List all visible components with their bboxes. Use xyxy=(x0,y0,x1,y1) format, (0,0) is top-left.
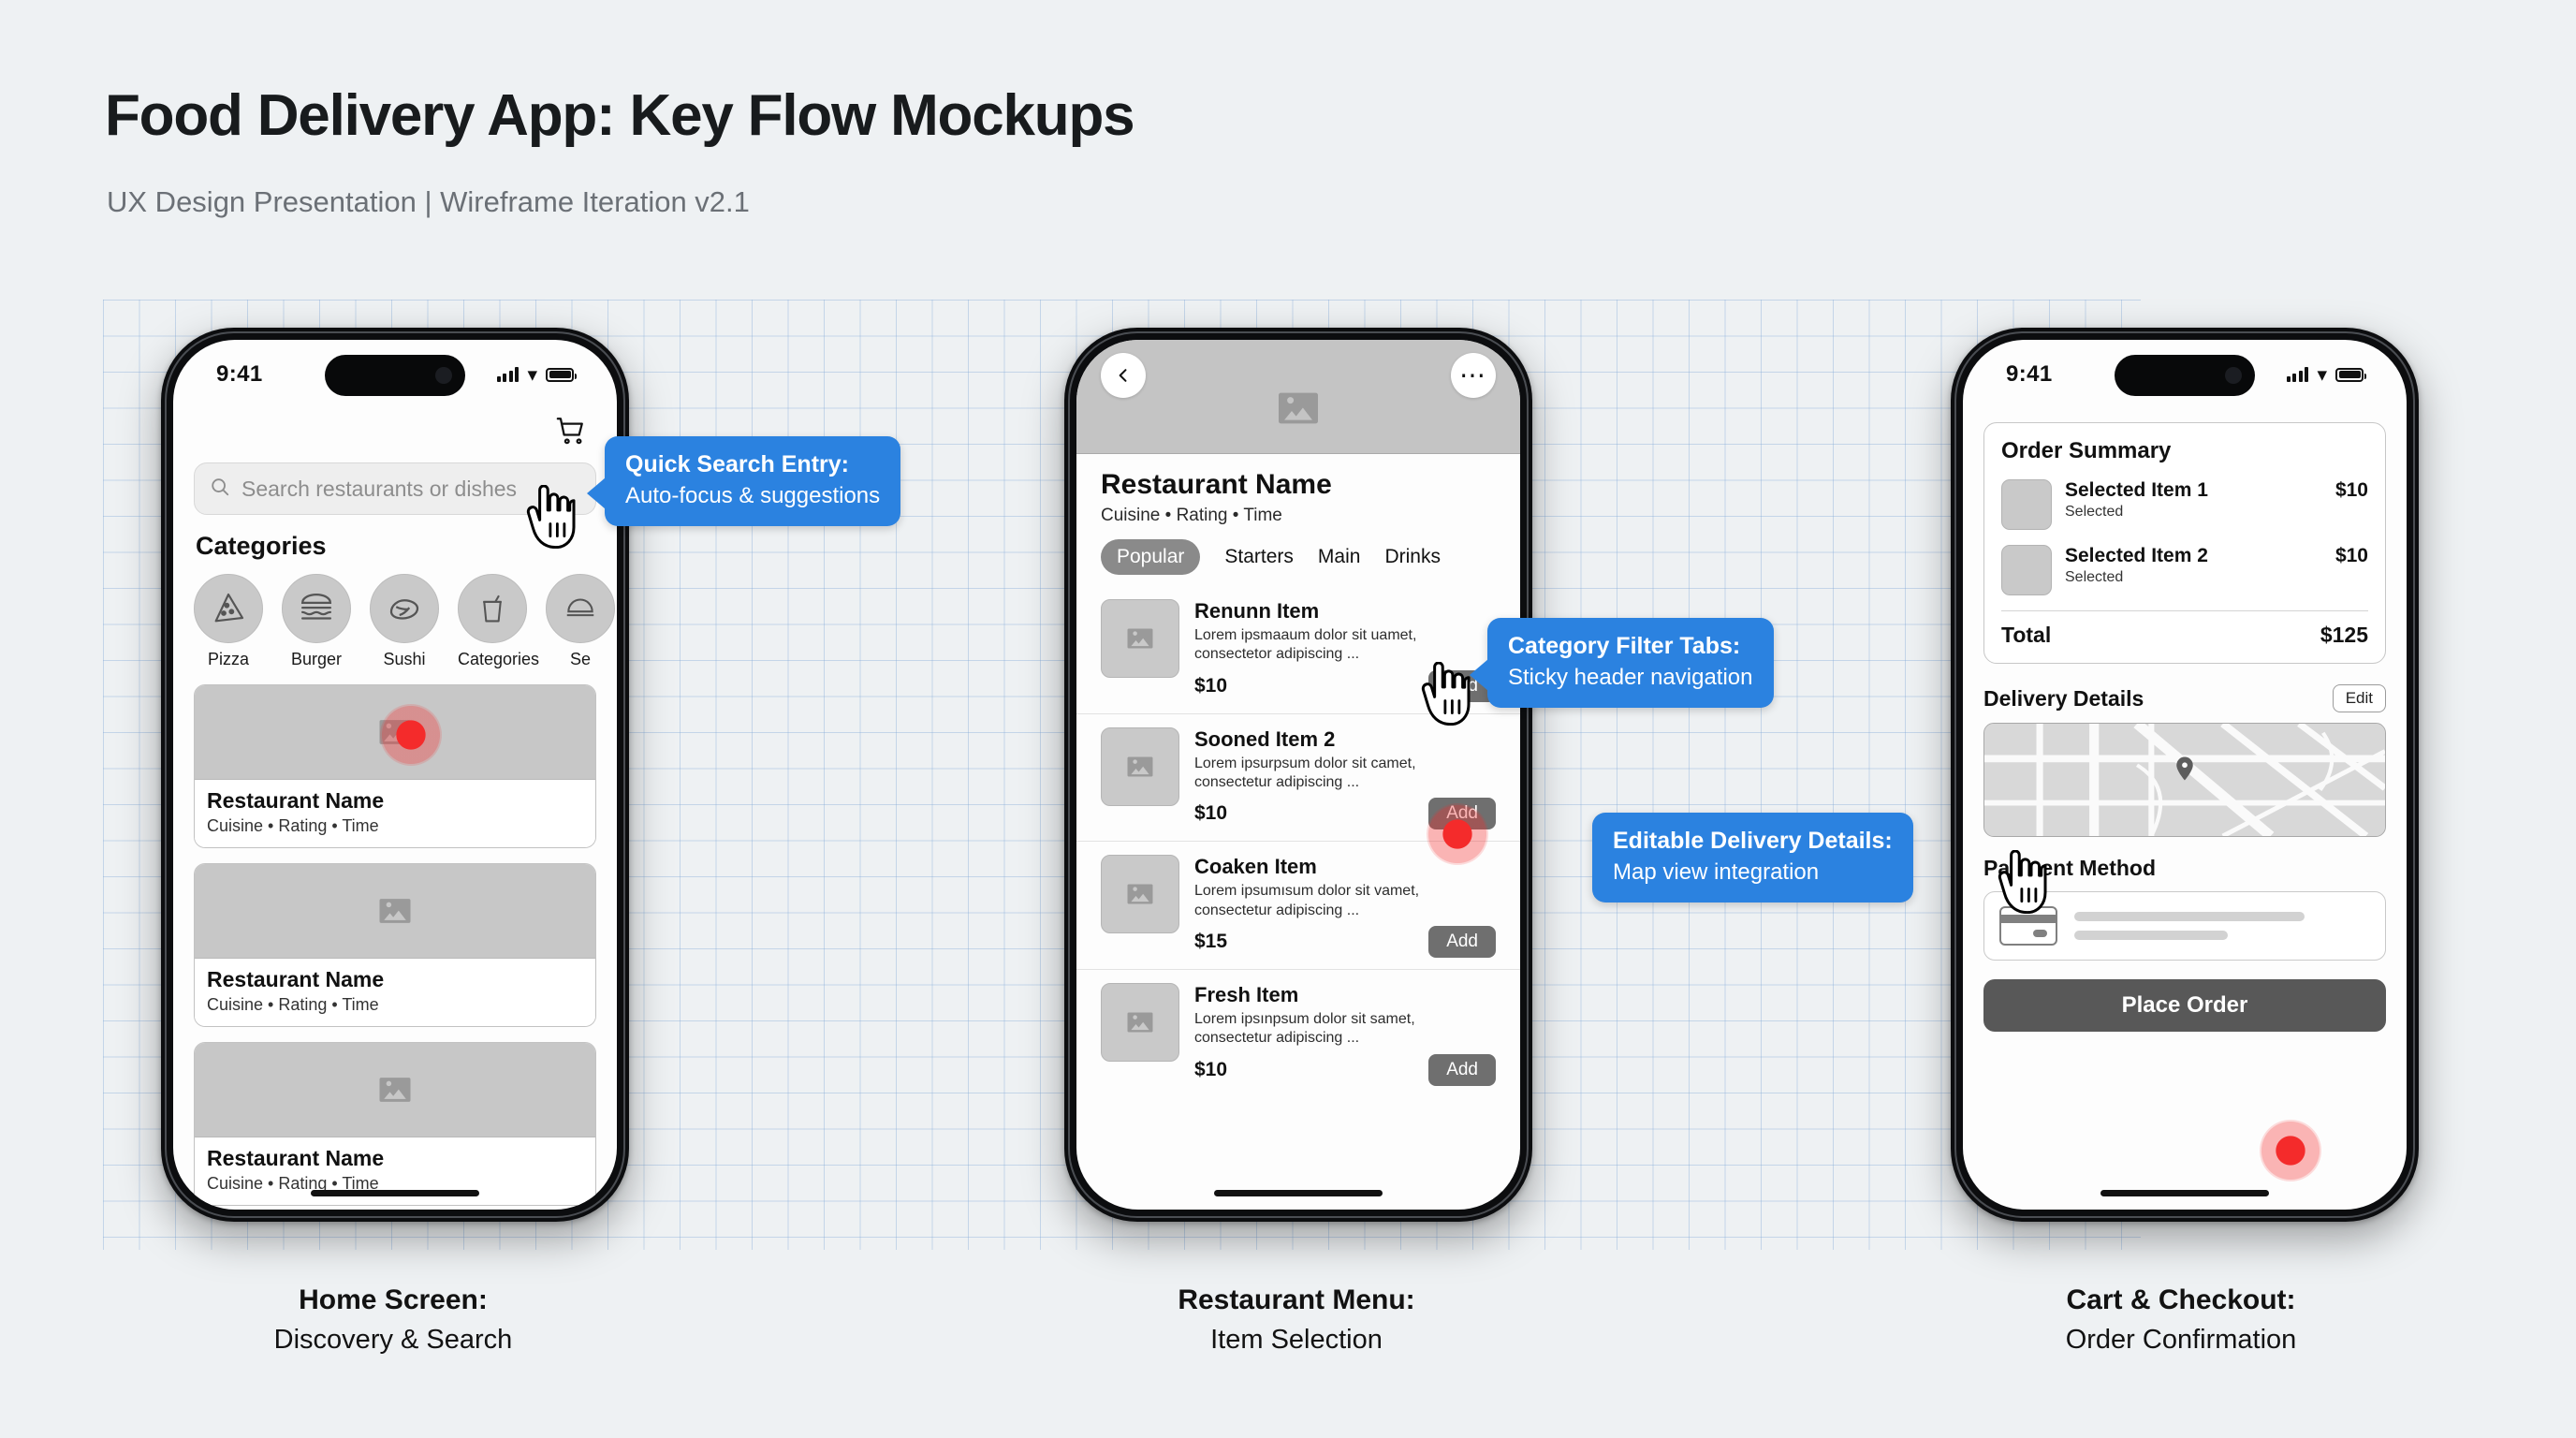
dynamic-island xyxy=(325,355,465,396)
more-options-button[interactable]: ⋯ xyxy=(1451,353,1496,398)
wifi-icon: ▾ xyxy=(2317,365,2327,385)
order-item-info: Selected Item 2 Selected xyxy=(2065,545,2322,586)
pizza-slice-icon xyxy=(194,574,263,643)
phone-mockup-restaurant-menu: 9:41 ▾ ⋯ Restaurant Name Cuisine • Ratin… xyxy=(1064,328,1532,1222)
tab-starters[interactable]: Starters xyxy=(1224,546,1294,568)
callout-quick-search-entry: Quick Search Entry: Auto-focus & suggest… xyxy=(605,436,900,526)
menu-item-footer: $15 Add xyxy=(1194,926,1496,958)
total-value: $125 xyxy=(2320,623,2368,648)
callout-subtitle: Map view integration xyxy=(1613,858,1893,887)
callout-title: Category Filter Tabs: xyxy=(1508,632,1753,660)
categories-row: Pizza Burger Sushi xyxy=(194,574,596,669)
order-item-name: Selected Item 2 xyxy=(2065,545,2322,567)
restaurant-name: Restaurant Name xyxy=(1101,469,1496,501)
checkout-content: Order Summary Selected Item 1 Selected $… xyxy=(1963,409,2407,1032)
status-indicators: ▾ xyxy=(497,365,574,385)
chevron-left-icon xyxy=(1114,366,1133,385)
restaurant-name: Restaurant Name xyxy=(207,788,583,814)
burger-icon xyxy=(282,574,351,643)
page-subtitle: UX Design Presentation | Wireframe Itera… xyxy=(107,185,750,219)
order-summary-panel: Order Summary Selected Item 1 Selected $… xyxy=(1983,422,2386,664)
status-indicators: ▾ xyxy=(2287,365,2364,385)
order-item-info: Selected Item 1 Selected xyxy=(2065,479,2322,521)
edit-delivery-button[interactable]: Edit xyxy=(2333,684,2386,712)
restaurant-card[interactable]: Restaurant Name Cuisine • Rating • Time xyxy=(194,863,596,1027)
order-item-price: $10 xyxy=(2335,545,2368,567)
tab-popular[interactable]: Popular xyxy=(1101,539,1200,575)
order-item-thumbnail xyxy=(2001,545,2052,595)
menu-item-price: $10 xyxy=(1194,1059,1227,1081)
search-placeholder: Search restaurants or dishes xyxy=(241,477,517,502)
phone-mockup-home-screen: 9:41 ▾ xyxy=(161,328,629,1222)
front-camera-icon xyxy=(435,367,452,384)
cellular-signal-icon xyxy=(497,367,520,382)
category-label: Pizza xyxy=(194,650,263,669)
cart-row xyxy=(194,409,596,462)
front-camera-icon xyxy=(2225,367,2242,384)
divider xyxy=(2001,610,2368,611)
caption-title: Home Screen: xyxy=(131,1284,655,1316)
caption-title: Cart & Checkout: xyxy=(1919,1284,2443,1316)
caption-cart-checkout: Cart & Checkout: Order Confirmation xyxy=(1919,1284,2443,1356)
home-indicator xyxy=(2100,1190,2269,1196)
menu-item-thumbnail xyxy=(1101,727,1179,806)
category-label: Categories xyxy=(458,650,527,669)
status-bar: 9:41 ▾ xyxy=(1963,340,2407,409)
restaurant-image-placeholder xyxy=(195,864,595,958)
category-filter-tabs: Popular Starters Main Drinks xyxy=(1101,539,1496,575)
callout-title: Editable Delivery Details: xyxy=(1613,827,1893,855)
restaurant-name: Restaurant Name xyxy=(207,1146,583,1171)
restaurant-image-placeholder xyxy=(195,1043,595,1137)
tap-indicator xyxy=(380,704,442,766)
battery-icon xyxy=(546,368,574,382)
order-item-thumbnail xyxy=(2001,479,2052,530)
order-item-row: Selected Item 1 Selected $10 xyxy=(2001,479,2368,530)
category-label: Burger xyxy=(282,650,351,669)
order-summary-title: Order Summary xyxy=(2001,438,2368,464)
restaurant-submeta: Cuisine • Rating • Time xyxy=(1101,506,1496,526)
caption-subtitle: Item Selection xyxy=(1034,1325,1559,1356)
search-icon xyxy=(210,477,230,502)
hand-cursor-icon xyxy=(520,485,577,549)
restaurant-submeta: Cuisine • Rating • Time xyxy=(207,995,583,1015)
delivery-map-preview[interactable] xyxy=(1983,723,2386,837)
screen-menu: 9:41 ▾ ⋯ Restaurant Name Cuisine • Ratin… xyxy=(1076,340,1520,1210)
order-total-row: Total $125 xyxy=(2001,623,2368,648)
sushi-icon xyxy=(370,574,439,643)
callout-editable-delivery-details: Editable Delivery Details: Map view inte… xyxy=(1592,813,1913,902)
order-item-name: Selected Item 1 xyxy=(2065,479,2322,502)
add-item-button[interactable]: Add xyxy=(1428,926,1496,958)
callout-subtitle: Auto-focus & suggestions xyxy=(625,482,880,510)
restaurant-card[interactable]: Restaurant Name Cuisine • Rating • Time xyxy=(194,1042,596,1206)
category-chip-drinks[interactable]: Categories xyxy=(458,574,527,669)
caption-title: Restaurant Menu: xyxy=(1034,1284,1559,1316)
order-item-status: Selected xyxy=(2065,569,2322,586)
callout-title: Quick Search Entry: xyxy=(625,450,880,478)
hand-cursor-icon xyxy=(1992,850,2048,914)
shopping-cart-icon[interactable] xyxy=(555,415,587,451)
home-indicator xyxy=(311,1190,479,1196)
page-title: Food Delivery App: Key Flow Mockups xyxy=(105,82,1134,149)
caption-subtitle: Discovery & Search xyxy=(131,1325,655,1356)
menu-item-name: Fresh Item xyxy=(1194,983,1496,1007)
hand-cursor-icon xyxy=(1415,662,1471,726)
restaurant-name: Restaurant Name xyxy=(207,967,583,992)
delivery-details-title: Delivery Details xyxy=(1983,686,2144,712)
caption-subtitle: Order Confirmation xyxy=(1919,1325,2443,1356)
status-time: 9:41 xyxy=(2006,361,2053,388)
battery-icon xyxy=(2335,368,2364,382)
menu-item-description: Lorem ipsmaaum dolor sit uamet, consecte… xyxy=(1194,626,1496,665)
total-label: Total xyxy=(2001,623,2051,648)
category-chip-burger[interactable]: Burger xyxy=(282,574,351,669)
menu-item-price: $10 xyxy=(1194,675,1227,697)
category-chip-pizza[interactable]: Pizza xyxy=(194,574,263,669)
category-chip-sushi[interactable]: Sushi xyxy=(370,574,439,669)
menu-item-name: Sooned Item 2 xyxy=(1194,727,1496,752)
restaurant-submeta: Cuisine • Rating • Time xyxy=(207,816,583,836)
wifi-icon: ▾ xyxy=(527,365,537,385)
restaurant-header-info: Restaurant Name Cuisine • Rating • Time … xyxy=(1076,454,1520,575)
menu-item-body: Fresh Item Lorem ipsınpsum dolor sit sam… xyxy=(1194,983,1496,1086)
restaurant-hero-image: 9:41 ▾ ⋯ xyxy=(1076,340,1520,454)
menu-item-row[interactable]: Fresh Item Lorem ipsınpsum dolor sit sam… xyxy=(1076,969,1520,1097)
tap-indicator xyxy=(2260,1120,2321,1181)
restaurant-meta: Restaurant Name Cuisine • Rating • Time xyxy=(195,958,595,1026)
order-item-row: Selected Item 2 Selected $10 xyxy=(2001,545,2368,595)
payment-line xyxy=(2074,912,2305,921)
menu-item-thumbnail xyxy=(1101,599,1179,678)
callout-subtitle: Sticky header navigation xyxy=(1508,664,1753,692)
callout-category-filter-tabs: Category Filter Tabs: Sticky header navi… xyxy=(1487,618,1774,708)
order-item-price: $10 xyxy=(2335,479,2368,502)
menu-item-thumbnail xyxy=(1101,983,1179,1062)
category-label: Se xyxy=(546,650,615,669)
back-button[interactable] xyxy=(1101,353,1146,398)
dynamic-island xyxy=(2115,355,2255,396)
menu-item-footer: $10 Add xyxy=(1194,1054,1496,1086)
category-chip-partial[interactable]: Se xyxy=(546,574,615,669)
tab-drinks[interactable]: Drinks xyxy=(1384,546,1441,568)
status-bar: 9:41 ▾ xyxy=(173,340,617,409)
restaurant-meta: Restaurant Name Cuisine • Rating • Time xyxy=(195,779,595,847)
menu-item-body: Coaken Item Lorem ipsumısum dolor sit va… xyxy=(1194,855,1496,958)
caption-restaurant-menu: Restaurant Menu: Item Selection xyxy=(1034,1284,1559,1356)
tap-indicator xyxy=(1427,803,1488,865)
order-item-status: Selected xyxy=(2065,504,2322,521)
status-time: 9:41 xyxy=(216,361,263,388)
menu-item-description: Lorem ipsumısum dolor sit vamet, consect… xyxy=(1194,882,1496,920)
menu-item-price: $15 xyxy=(1194,931,1227,953)
drink-cup-icon xyxy=(458,574,527,643)
screen-home: 9:41 ▾ xyxy=(173,340,617,1210)
menu-item-price: $10 xyxy=(1194,802,1227,825)
place-order-button[interactable]: Place Order xyxy=(1983,979,2386,1032)
payment-line xyxy=(2074,931,2228,940)
delivery-details-header: Delivery Details Edit xyxy=(1983,684,2386,712)
payment-placeholder-lines xyxy=(2074,912,2370,940)
phone-mockup-cart-checkout: 9:41 ▾ Order Summary Selected Item 1 Sel… xyxy=(1951,328,2419,1222)
menu-item-name: Renunn Item xyxy=(1194,599,1496,624)
map-pin-icon xyxy=(2171,755,2199,783)
cellular-signal-icon xyxy=(2287,367,2309,382)
menu-item-thumbnail xyxy=(1101,855,1179,933)
image-placeholder-icon xyxy=(1272,382,1325,434)
home-indicator xyxy=(1214,1190,1383,1196)
caption-home-screen: Home Screen: Discovery & Search xyxy=(131,1284,655,1356)
tab-main[interactable]: Main xyxy=(1318,546,1361,568)
screen-checkout: 9:41 ▾ Order Summary Selected Item 1 Sel… xyxy=(1963,340,2407,1210)
partial-icon xyxy=(546,574,615,643)
menu-item-description: Lorem ipsınpsum dolor sit samet, consect… xyxy=(1194,1010,1496,1049)
add-item-button[interactable]: Add xyxy=(1428,1054,1496,1086)
ellipsis-icon: ⋯ xyxy=(1459,370,1487,380)
menu-item-description: Lorem ipsurpsum dolor sit camet, consect… xyxy=(1194,755,1496,793)
category-label: Sushi xyxy=(370,650,439,669)
